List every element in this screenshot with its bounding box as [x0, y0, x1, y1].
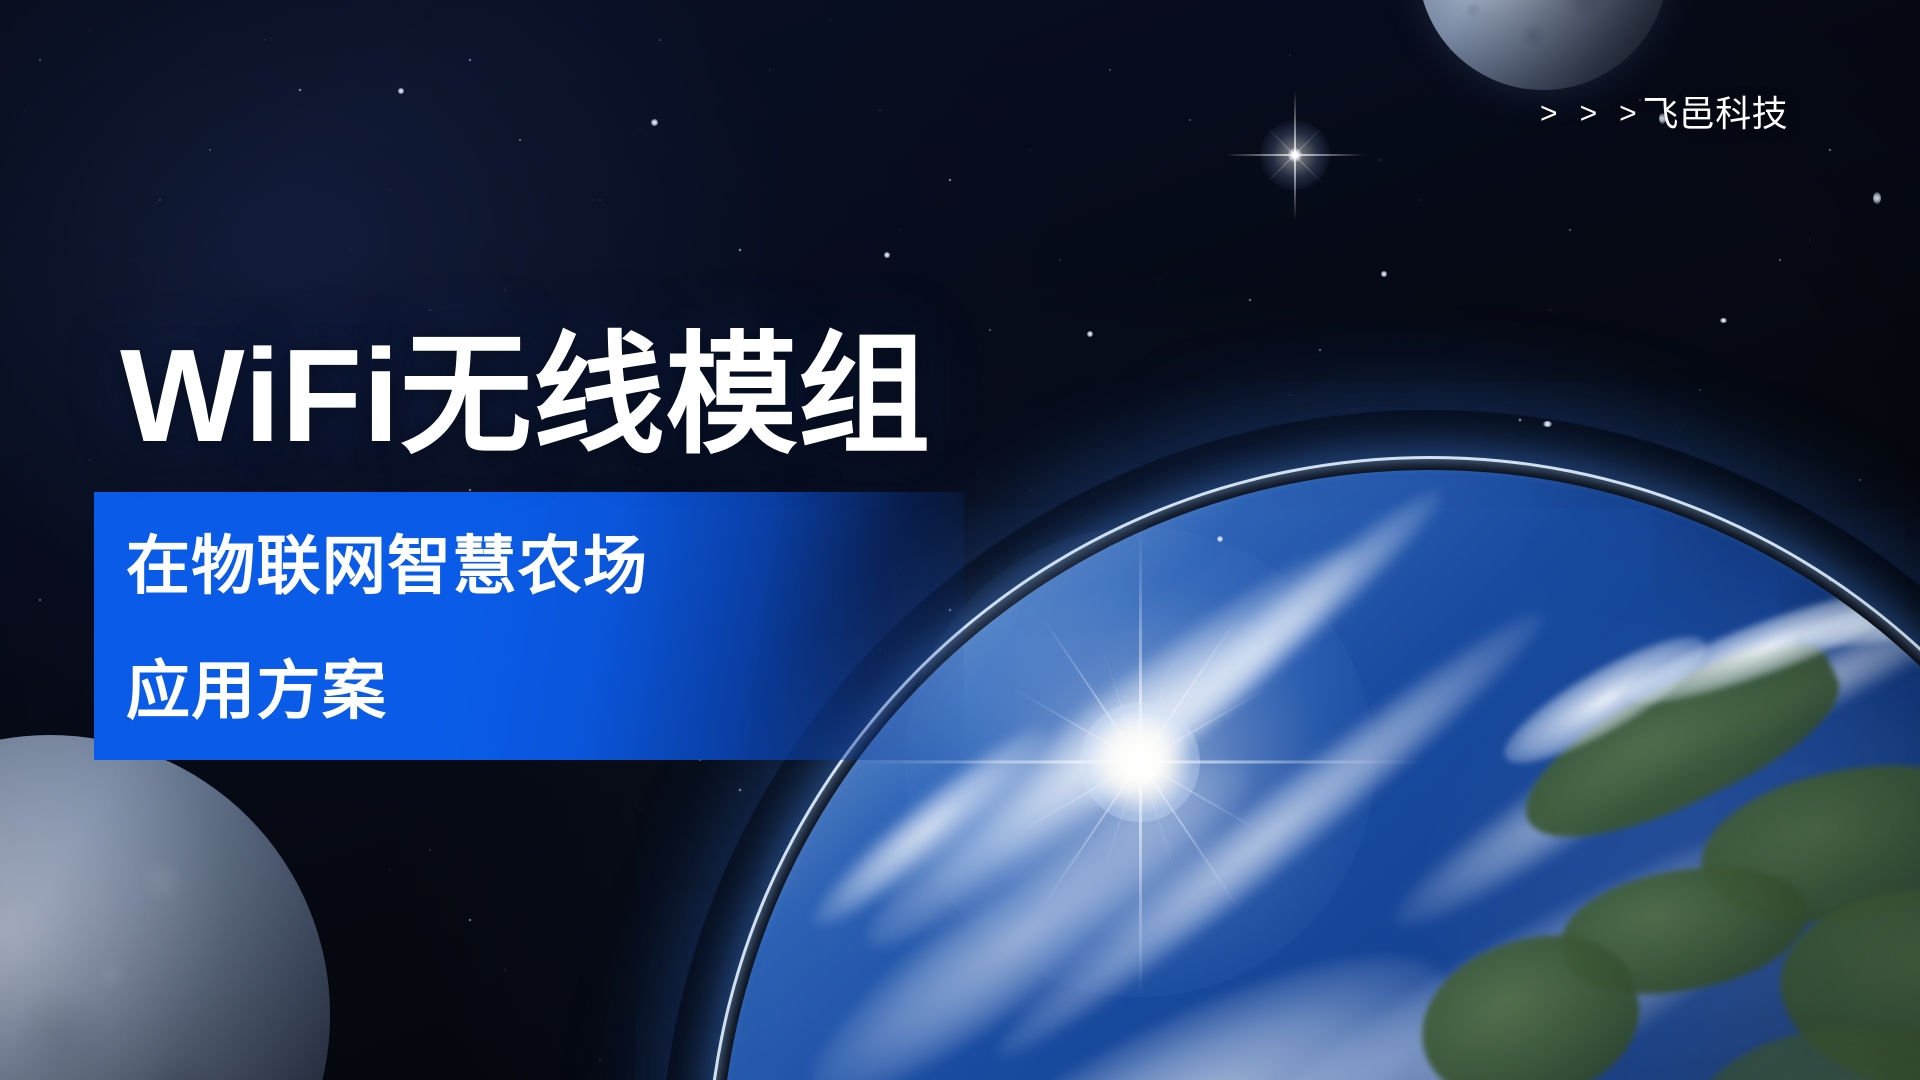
subtitle-line-2: 应用方案 [126, 629, 648, 754]
brand-name: 飞邑科技 [1643, 96, 1788, 132]
page-title: WiFi无线模组 [120, 330, 931, 462]
moon-bottom-left [0, 735, 330, 1080]
moon-terminator-shading [1418, 0, 1668, 90]
moon-top-right [1418, 0, 1668, 90]
chevron-right-icon: > > > [1540, 99, 1639, 129]
moon-terminator-shading [0, 735, 330, 1080]
title-slide: > > > 飞邑科技 WiFi无线模组 在物联网智慧农场 应用方案 [0, 0, 1920, 1080]
brand-logo[interactable]: > > > 飞邑科技 [1540, 96, 1788, 132]
subtitle: 在物联网智慧农场 应用方案 [126, 504, 648, 754]
subtitle-line-1: 在物联网智慧农场 [126, 504, 648, 629]
